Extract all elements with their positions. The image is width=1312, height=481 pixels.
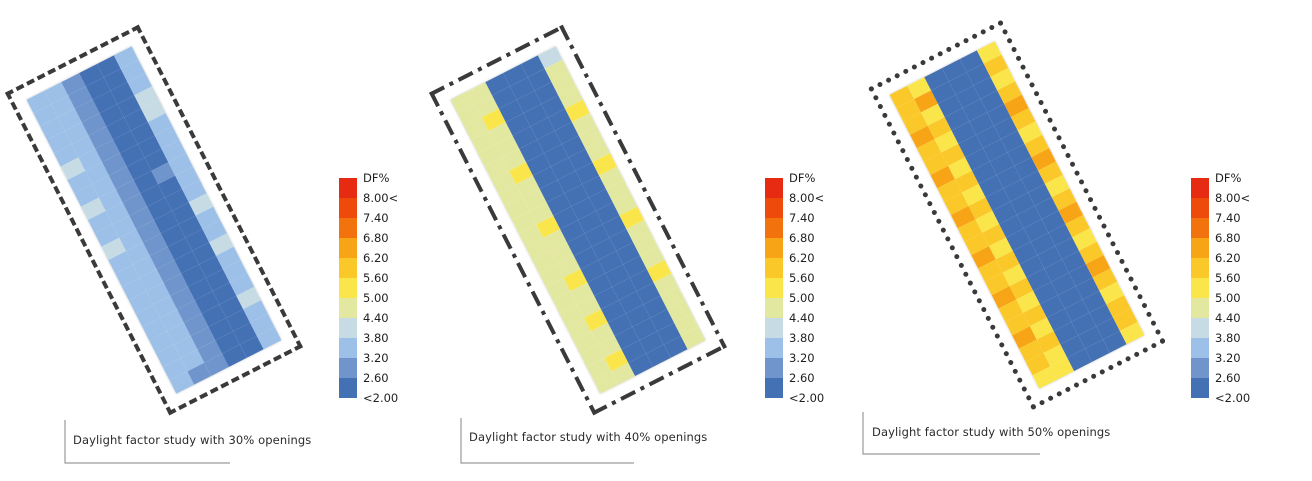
legend-tick-label: 2.60	[363, 372, 389, 384]
legend-swatch	[765, 358, 783, 378]
legend-tick-label: 8.00<	[1215, 192, 1250, 204]
legend-swatch	[339, 198, 357, 218]
legend-tick-label: 7.40	[1215, 212, 1241, 224]
legend-tick-label: 2.60	[1215, 372, 1241, 384]
figure-canvas: Daylight factor study with 30% openings …	[0, 0, 1312, 481]
legend-tick-label: 6.80	[363, 232, 389, 244]
legend-tick-label: 7.40	[363, 212, 389, 224]
legend-swatch	[765, 218, 783, 238]
legend-title: DF%	[363, 172, 389, 184]
legend-tick-label: 2.60	[789, 372, 815, 384]
legend-swatch	[765, 298, 783, 318]
legend-swatch	[765, 318, 783, 338]
legend-swatch	[1191, 358, 1209, 378]
legend-labels-30: DF%8.00<7.406.806.205.605.004.403.803.20…	[363, 172, 433, 404]
legend-tick-label: 6.20	[1215, 252, 1241, 264]
legend-tick-label: 6.20	[789, 252, 815, 264]
daylight-heatmap-40[interactable]	[451, 46, 706, 394]
legend-swatch	[339, 378, 357, 398]
legend-tick-label: 5.60	[1215, 272, 1241, 284]
legend-labels-50: DF%8.00<7.406.806.205.605.004.403.803.20…	[1215, 172, 1285, 404]
legend-swatch	[765, 198, 783, 218]
legend-swatch	[765, 178, 783, 198]
legend-labels-40: DF%8.00<7.406.806.205.605.004.403.803.20…	[789, 172, 859, 404]
legend-swatch	[765, 238, 783, 258]
study-panel-40: Daylight factor study with 40% openings …	[424, 0, 861, 481]
caption-30: Daylight factor study with 30% openings	[73, 433, 311, 447]
legend-colorbar-30[interactable]	[339, 178, 357, 398]
legend-tick-label: 3.20	[1215, 352, 1241, 364]
legend-tick-label: 5.00	[789, 292, 815, 304]
legend-swatch	[339, 338, 357, 358]
legend-tick-label: <2.00	[789, 392, 824, 404]
legend-tick-label: 5.60	[363, 272, 389, 284]
legend-tick-label: 5.60	[789, 272, 815, 284]
legend-swatch	[339, 318, 357, 338]
legend-tick-label: 3.20	[789, 352, 815, 364]
legend-swatch	[1191, 238, 1209, 258]
building-plan-30[interactable]	[27, 46, 282, 394]
legend-title: DF%	[789, 172, 815, 184]
legend-tick-label: 4.40	[363, 312, 389, 324]
legend-swatch	[1191, 178, 1209, 198]
legend-tick-label: 5.00	[363, 292, 389, 304]
legend-swatch	[765, 338, 783, 358]
legend-tick-label: 6.80	[1215, 232, 1241, 244]
legend-colorbar-40[interactable]	[765, 178, 783, 398]
legend-swatch	[1191, 198, 1209, 218]
legend-swatch	[339, 278, 357, 298]
legend-tick-label: 8.00<	[363, 192, 398, 204]
caption-leader-40	[456, 418, 646, 470]
building-plan-40[interactable]	[451, 46, 706, 394]
legend-tick-label: 3.80	[789, 332, 815, 344]
legend-swatch	[765, 278, 783, 298]
legend-swatch	[339, 218, 357, 238]
legend-tick-label: 7.40	[789, 212, 815, 224]
legend-tick-label: <2.00	[363, 392, 398, 404]
legend-swatch	[1191, 218, 1209, 238]
daylight-heatmap-50[interactable]	[890, 41, 1145, 389]
legend-title: DF%	[1215, 172, 1241, 184]
caption-40: Daylight factor study with 40% openings	[469, 430, 707, 444]
legend-swatch	[765, 258, 783, 278]
legend-tick-label: 4.40	[1215, 312, 1241, 324]
legend-tick-label: 6.20	[363, 252, 389, 264]
legend-tick-label: 4.40	[789, 312, 815, 324]
legend-swatch	[339, 358, 357, 378]
legend-tick-label: 5.00	[1215, 292, 1241, 304]
legend-swatch	[1191, 338, 1209, 358]
legend-swatch	[1191, 318, 1209, 338]
legend-colorbar-50[interactable]	[1191, 178, 1209, 398]
daylight-heatmap-30[interactable]	[27, 46, 282, 394]
legend-swatch	[339, 238, 357, 258]
legend-tick-label: 6.80	[789, 232, 815, 244]
legend-tick-label: 3.20	[363, 352, 389, 364]
legend-swatch	[1191, 278, 1209, 298]
legend-tick-label: <2.00	[1215, 392, 1250, 404]
legend-swatch	[765, 378, 783, 398]
legend-swatch	[339, 298, 357, 318]
legend-swatch	[1191, 378, 1209, 398]
legend-swatch	[339, 258, 357, 278]
legend-swatch	[339, 178, 357, 198]
legend-tick-label: 3.80	[1215, 332, 1241, 344]
legend-tick-label: 8.00<	[789, 192, 824, 204]
study-panel-50: Daylight factor study with 50% openings …	[850, 0, 1287, 481]
legend-tick-label: 3.80	[363, 332, 389, 344]
legend-swatch	[1191, 258, 1209, 278]
caption-50: Daylight factor study with 50% openings	[872, 425, 1110, 439]
building-plan-50[interactable]	[890, 41, 1145, 389]
study-panel-30: Daylight factor study with 30% openings …	[0, 0, 437, 481]
legend-swatch	[1191, 298, 1209, 318]
